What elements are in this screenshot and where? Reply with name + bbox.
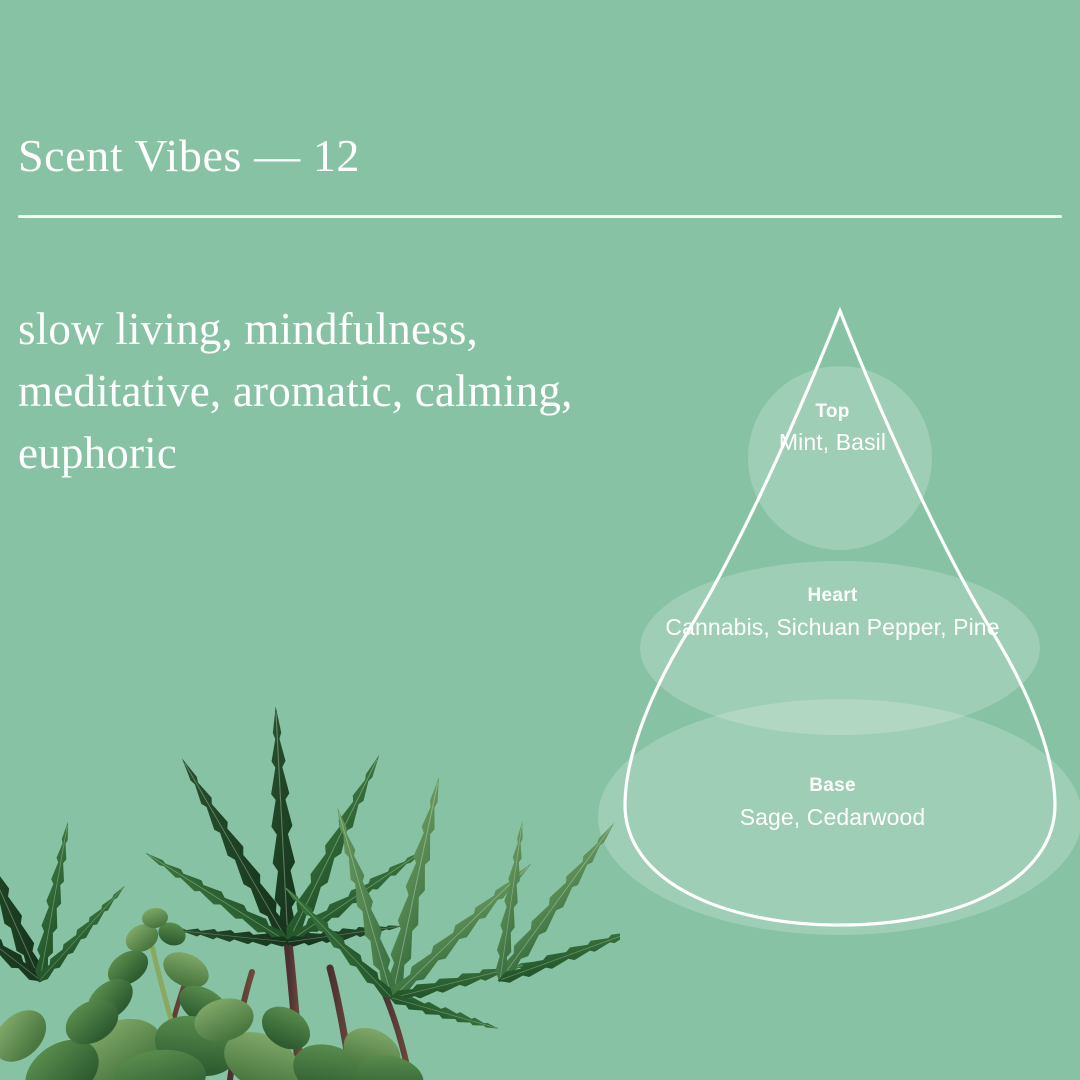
title-divider [18, 215, 1062, 218]
scent-pyramid-graphic [585, 295, 1080, 940]
scent-pyramid-diagram: Top Mint, Basil Heart Cannabis, Sichuan … [585, 295, 1080, 940]
scent-vibes-card: Scent Vibes — 12 slow living, mindfulnes… [0, 0, 1080, 1080]
cannabis-and-mint-leaves-illustration [0, 680, 620, 1080]
top-layer-circle [748, 366, 932, 550]
page-title: Scent Vibes — 12 [18, 129, 360, 182]
heart-layer-ellipse [640, 561, 1040, 735]
scent-vibes-description: slow living, mindfulness, meditative, ar… [18, 298, 638, 484]
cannabis-leaf-far-right [423, 771, 620, 1037]
mint-bush [0, 991, 428, 1080]
note-layers [598, 366, 1080, 935]
cannabis-leaf-center [141, 706, 429, 950]
plant-photo [0, 680, 620, 1080]
